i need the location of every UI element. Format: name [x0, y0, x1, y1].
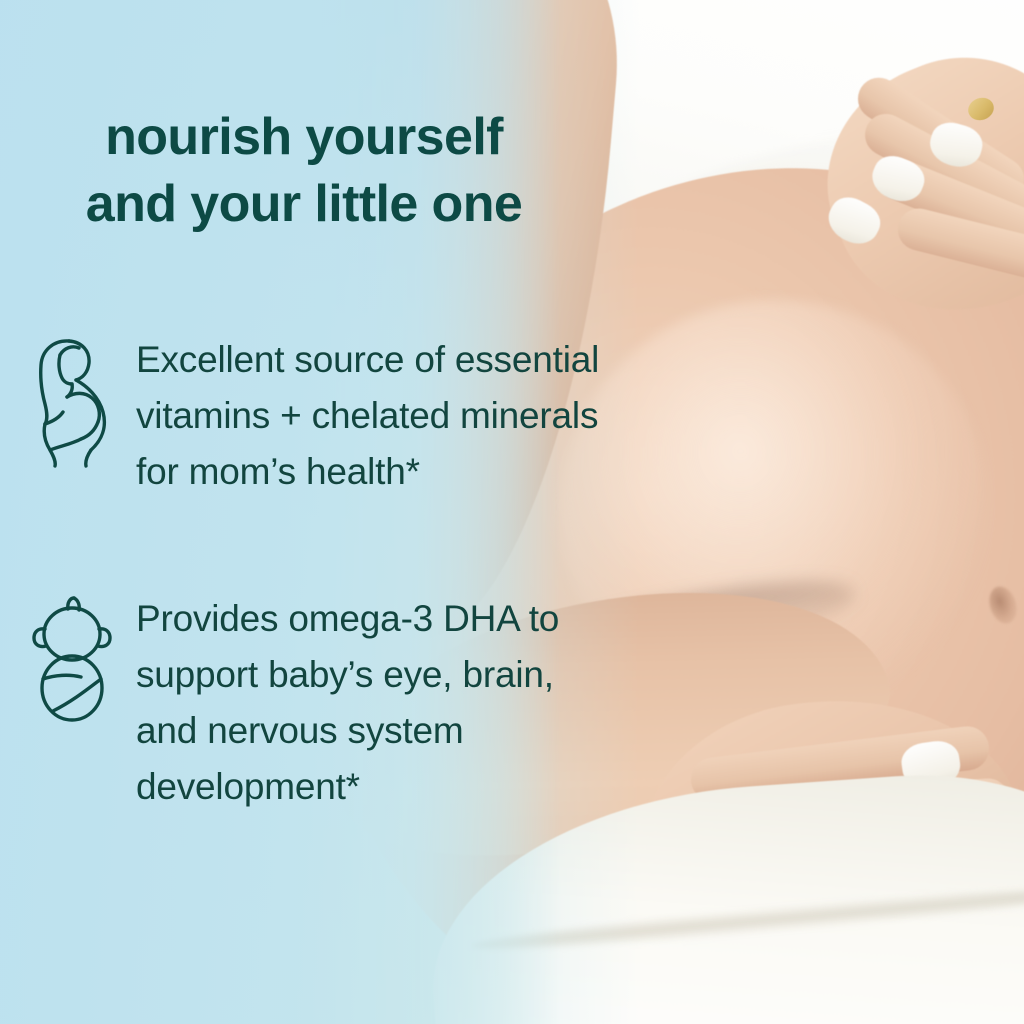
pregnant-woman-icon	[26, 330, 118, 466]
page-title: nourish yourself and your little one	[0, 104, 608, 237]
headline-line-2: and your little one	[0, 171, 608, 238]
swaddled-baby-icon	[26, 589, 118, 725]
poster-content: nourish yourself and your little one	[0, 0, 1024, 1024]
benefit-item-baby: Provides omega-3 DHA to support baby’s e…	[26, 589, 626, 816]
benefit-text-mom: Excellent source of essential vitamins +…	[136, 330, 606, 501]
headline-line-1: nourish yourself	[0, 104, 608, 171]
benefit-text-baby: Provides omega-3 DHA to support baby’s e…	[136, 589, 606, 816]
benefit-item-mom: Excellent source of essential vitamins +…	[26, 330, 626, 501]
benefit-list: Excellent source of essential vitamins +…	[26, 330, 626, 816]
promo-poster: nourish yourself and your little one	[0, 0, 1024, 1024]
